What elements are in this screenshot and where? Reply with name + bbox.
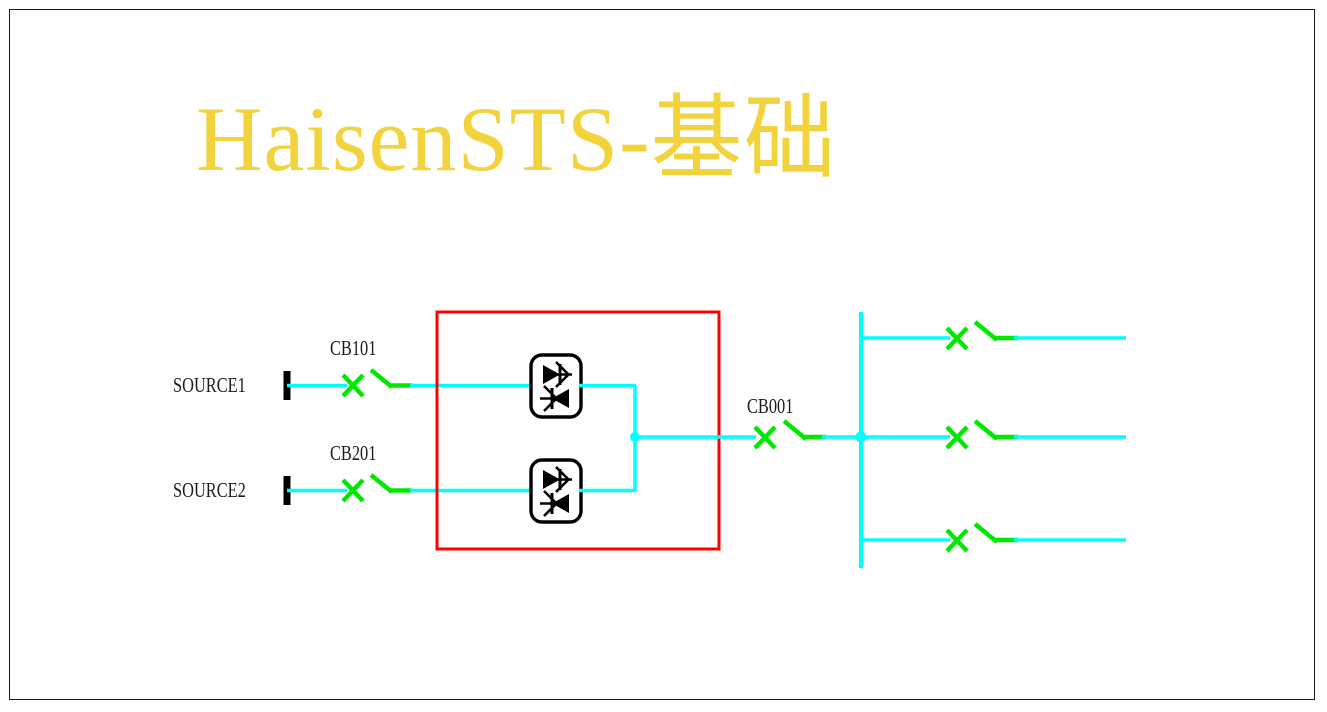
breaker-feeder-3-blade <box>975 524 997 542</box>
schematic-svg <box>0 0 1327 712</box>
main-busbar[interactable] <box>856 312 867 568</box>
breaker-cb101-blade <box>371 370 392 387</box>
label-cb101: CB101 <box>330 338 376 359</box>
feeder-3 <box>861 524 1126 551</box>
sts-output-tie <box>630 386 756 491</box>
breaker-cb101[interactable] <box>343 370 412 396</box>
diagram-canvas: HaisenSTS-基础 <box>0 0 1327 712</box>
label-cb001: CB001 <box>747 396 793 417</box>
source2-group <box>287 475 536 505</box>
breaker-feeder-1-blade <box>975 322 997 340</box>
label-cb201: CB201 <box>330 443 376 464</box>
breaker-cb001-blade <box>784 421 806 439</box>
feeder-1 <box>861 322 1126 349</box>
breaker-feeder-2[interactable] <box>947 421 1018 448</box>
breaker-cb201-blade <box>371 475 392 492</box>
source1-group <box>287 370 536 400</box>
thyristor-block-2[interactable] <box>531 460 636 522</box>
breaker-cb001[interactable] <box>755 421 826 448</box>
breaker-feeder-1[interactable] <box>947 322 1018 349</box>
label-source1: SOURCE1 <box>173 375 246 396</box>
breaker-feeder-2-blade <box>975 421 997 439</box>
breaker-cb201[interactable] <box>343 475 412 501</box>
feeder-2 <box>861 421 1126 448</box>
label-source2: SOURCE2 <box>173 480 246 501</box>
breaker-feeder-3[interactable] <box>947 524 1018 551</box>
thyristor-block-1[interactable] <box>531 355 636 417</box>
